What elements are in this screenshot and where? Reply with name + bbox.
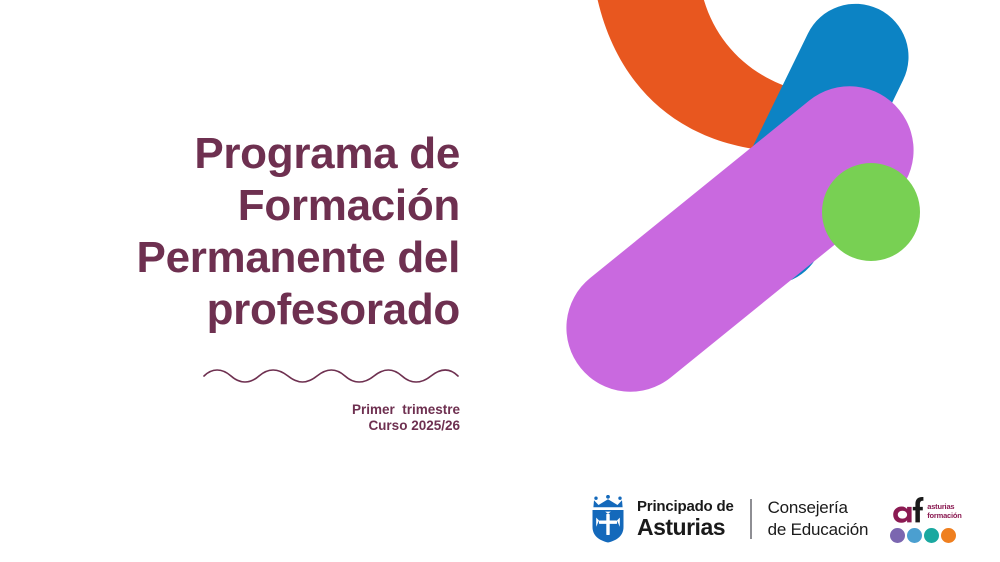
consejeria-line-1: Consejería	[768, 497, 869, 519]
logo-divider	[750, 499, 752, 539]
principado-line-2: Asturias	[637, 516, 734, 539]
green-circle-shape	[822, 163, 920, 261]
dot-teal-icon	[924, 528, 939, 543]
title-line-1: Programa de	[194, 129, 460, 178]
title-line-2: Formación	[238, 181, 460, 230]
af-color-dots	[890, 528, 962, 543]
purple-capsule-shape	[540, 60, 939, 417]
subtitle-line-1: Primer trimestre	[60, 402, 460, 418]
presentation-slide: Programa de Formación Permanente del pro…	[0, 0, 1000, 562]
dot-orange-icon	[941, 528, 956, 543]
orange-arc-shape	[598, 0, 798, 140]
af-wordmark: asturias formación	[927, 502, 961, 520]
consejeria-de-educacion-label: Consejería de Educación	[768, 497, 869, 541]
dot-purple-icon	[890, 528, 905, 543]
subtitle: Primer trimestre Curso 2025/26	[60, 402, 460, 434]
subtitle-line-2: Curso 2025/26	[60, 418, 460, 434]
asturias-shield-icon	[588, 495, 628, 543]
blue-capsule-shape	[700, 0, 927, 302]
orange-arc-shape-body	[590, 0, 845, 152]
footer-logo-bar: Principado de Asturias Consejería de Edu…	[588, 488, 962, 550]
page-title: Programa de Formación Permanente del pro…	[60, 128, 460, 336]
af-monogram-icon	[890, 495, 924, 525]
title-line-4: profesorado	[207, 285, 460, 334]
af-word-line-1: asturias	[927, 502, 961, 511]
dot-blue-icon	[907, 528, 922, 543]
title-block: Programa de Formación Permanente del pro…	[60, 128, 460, 434]
asturias-formacion-logo: asturias formación	[890, 495, 962, 543]
wavy-line-divider-icon	[202, 366, 460, 392]
title-line-3: Permanente del	[137, 233, 460, 282]
principado-wordmark: Principado de Asturias	[637, 499, 734, 539]
decorative-shape-cluster	[580, 0, 1000, 480]
consejeria-line-2: de Educación	[768, 519, 869, 541]
principado-de-asturias-logo: Principado de Asturias	[588, 495, 734, 543]
af-word-line-2: formación	[927, 511, 961, 520]
principado-line-1: Principado de	[637, 499, 734, 514]
